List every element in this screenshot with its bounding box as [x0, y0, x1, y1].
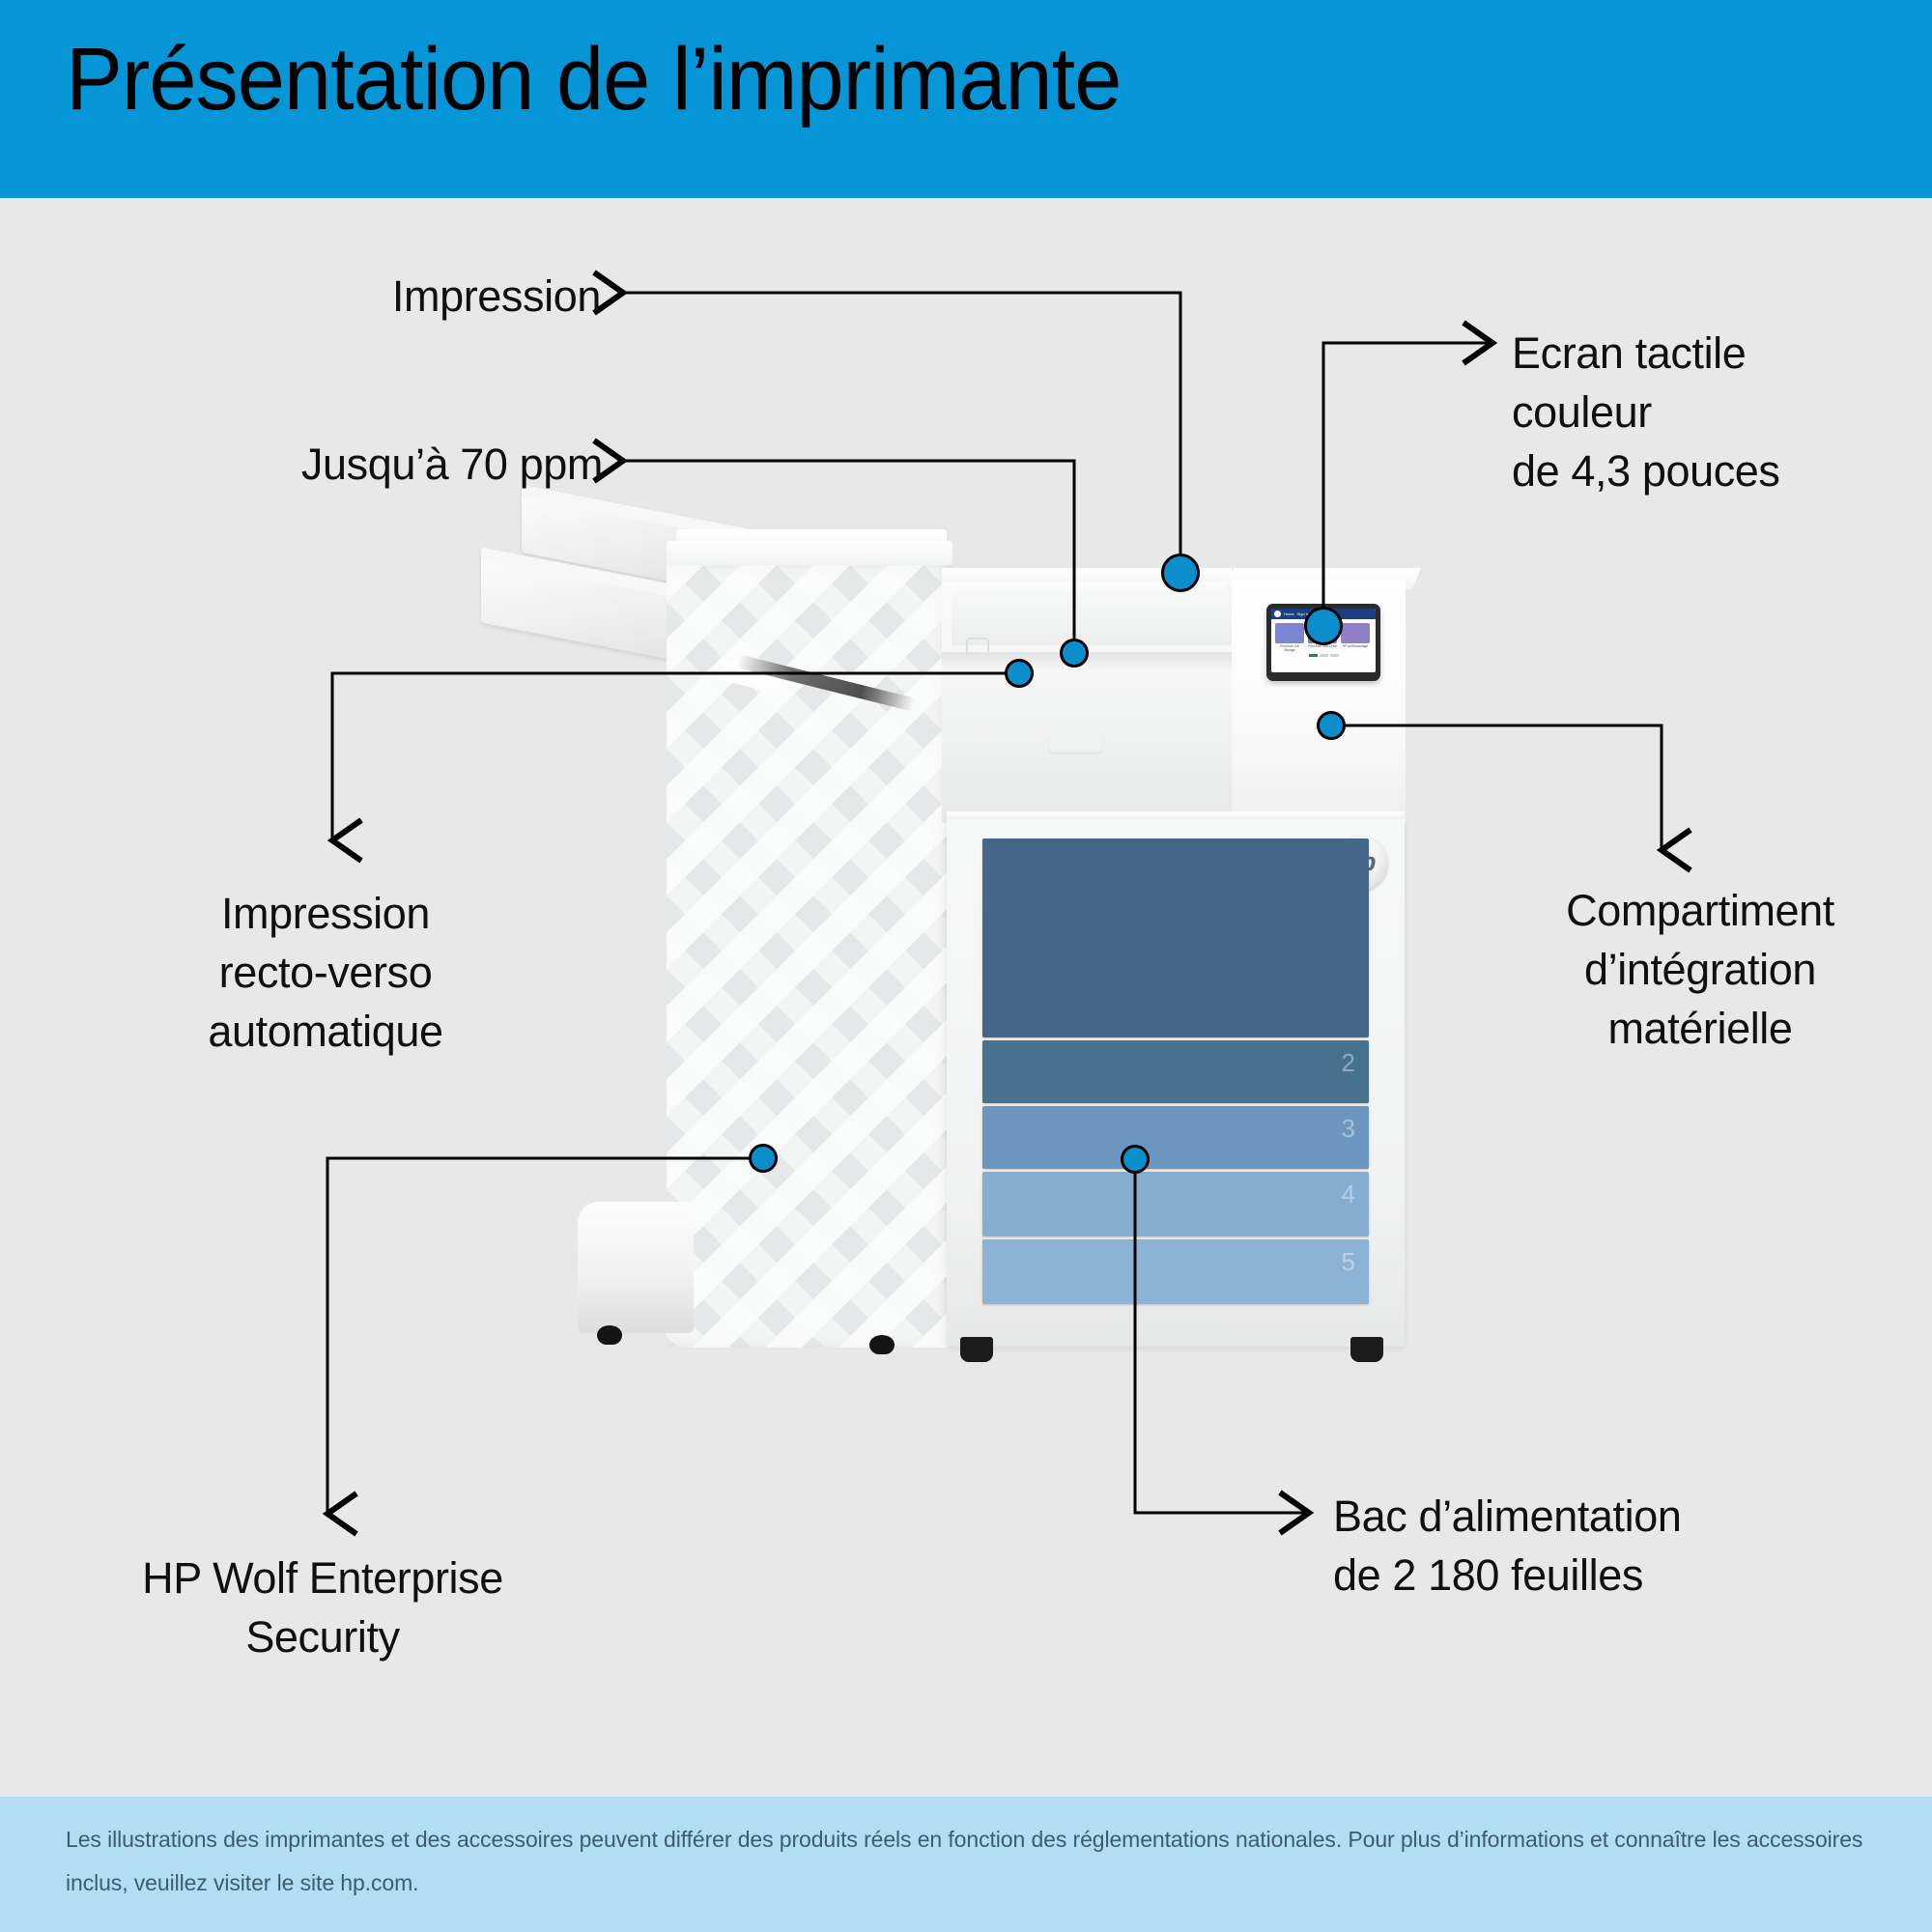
tray-number: 3	[1342, 1114, 1355, 1144]
table-row[interactable]: 3	[982, 1106, 1369, 1169]
caster-wheel	[597, 1325, 622, 1345]
callout-dot-duplex[interactable]	[1005, 659, 1034, 688]
callout-label-ppm: Jusqu’à 70 ppm	[259, 435, 603, 494]
tile-job-storage[interactable]: Print from Job Storage	[1275, 623, 1304, 652]
tray-front-door[interactable]	[982, 838, 1369, 1037]
callout-label-pocket: Compartiment d’intégration matérielle	[1488, 881, 1913, 1058]
page-footer: Les illustrations des imprimantes et des…	[0, 1797, 1932, 1932]
callout-label-touchscreen: Ecran tactile couleur de 4,3 pouces	[1512, 324, 1898, 500]
engine-lid	[952, 589, 1232, 645]
infographic-page: Présentation de l’imprimante ⏻	[0, 0, 1932, 1932]
cloud-icon	[1341, 623, 1370, 643]
callout-dot-touchscreen[interactable]	[1304, 607, 1343, 645]
tray-number: 2	[1342, 1048, 1355, 1078]
footer-disclaimer: Les illustrations des imprimantes et des…	[66, 1818, 1882, 1905]
hp-logo-icon	[1274, 611, 1281, 617]
callout-dot-impression[interactable]	[1161, 554, 1200, 592]
page-indicator	[1271, 654, 1376, 657]
tile-caption: HP wolfAdvantage	[1341, 644, 1370, 648]
table-row[interactable]: 5	[982, 1239, 1369, 1304]
callout-label-impression: Impression	[350, 267, 601, 326]
tray-number: 4	[1342, 1179, 1355, 1209]
job-storage-icon	[1275, 623, 1304, 643]
callout-dot-tray[interactable]	[1121, 1145, 1150, 1174]
caster-wheel	[960, 1337, 993, 1362]
table-row[interactable]: 2	[982, 1040, 1369, 1103]
tile-wolf-advantage[interactable]: HP wolfAdvantage	[1341, 623, 1370, 652]
caster-wheel	[869, 1335, 895, 1354]
callout-dot-wolf[interactable]	[749, 1144, 778, 1173]
tray-number: 5	[1342, 1247, 1355, 1277]
callout-label-duplex: Impression recto-verso automatique	[126, 884, 526, 1061]
table-row[interactable]: 4	[982, 1172, 1369, 1236]
screen-home-label[interactable]: Home	[1284, 611, 1294, 616]
callout-label-tray: Bac d’alimentation de 2 180 feuilles	[1333, 1487, 1787, 1605]
finisher-base	[578, 1202, 694, 1333]
callout-dot-pocket[interactable]	[1317, 711, 1346, 740]
tile-caption: Print from Job Storage	[1275, 644, 1304, 652]
callout-dot-ppm[interactable]	[1060, 639, 1089, 668]
callout-label-wolf: HP Wolf Enterprise Security	[97, 1548, 549, 1666]
caster-wheel	[1350, 1337, 1383, 1362]
engine-door-handle[interactable]	[1048, 737, 1104, 754]
